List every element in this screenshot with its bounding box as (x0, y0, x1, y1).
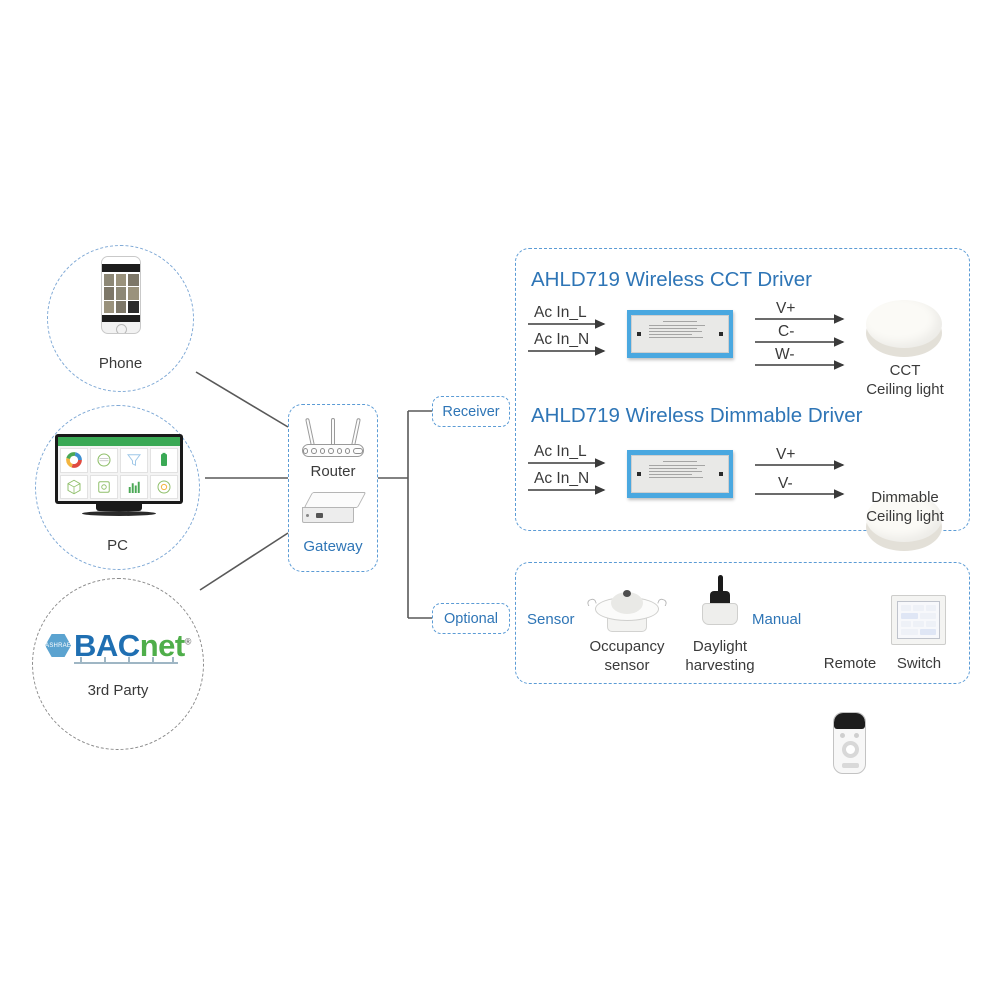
dimmable-load-line1: Dimmable (845, 489, 965, 508)
dimmable-driver-module (627, 450, 733, 498)
remote-label: Remote (815, 655, 885, 674)
gateway-label: Gateway (288, 538, 378, 557)
optional-tag-label: Optional (444, 611, 498, 627)
daylight-harvesting-icon (690, 575, 750, 633)
switch-label: Switch (886, 655, 952, 674)
occupancy-sensor-line2: sensor (575, 657, 679, 676)
dimmable-driver-title: AHLD719 Wireless Dimmable Driver (531, 404, 863, 428)
manual-group-label: Manual (752, 611, 801, 630)
bacnet-logo: ASHRAE BACnet® (48, 630, 188, 672)
smartphone-icon (101, 256, 141, 334)
receiver-tag[interactable]: Receiver (432, 396, 510, 427)
desktop-monitor-icon (55, 434, 183, 518)
third-party-label: 3rd Party (32, 682, 204, 701)
phone-label: Phone (47, 355, 194, 374)
remote-control-icon (833, 712, 866, 774)
daylight-harvesting-label: Daylight harvesting (668, 638, 772, 676)
cct-input-arrows (528, 318, 618, 366)
donut-chart-icon (65, 451, 83, 469)
gauge-icon (95, 451, 113, 469)
bacnet-logo-part2: net (140, 628, 185, 663)
dimmable-input-arrows (528, 457, 618, 505)
receiver-tag-label: Receiver (442, 404, 499, 420)
cube-icon (65, 478, 83, 496)
sensor-group-label: Sensor (527, 611, 575, 630)
ashrae-badge-icon: ASHRAE (45, 634, 71, 657)
bacnet-trademark: ® (185, 637, 191, 647)
ashrae-badge-text: ASHRAE (45, 643, 71, 649)
dimmable-load-line2: Ceiling light (845, 508, 965, 527)
dimmable-load-label: Dimmable Ceiling light (845, 489, 965, 527)
cct-load-label: CCT Ceiling light (845, 362, 965, 400)
daylight-line1: Daylight (668, 638, 772, 657)
bacnet-logo-part1: BAC (74, 628, 140, 663)
cct-load-line1: CCT (845, 362, 965, 381)
bacnet-bus-line (74, 662, 178, 664)
cct-driver-module (627, 310, 733, 358)
daylight-line2: harvesting (668, 657, 772, 676)
target-icon (155, 478, 173, 496)
wall-switch-icon (891, 595, 946, 645)
pc-label: PC (35, 537, 200, 556)
optional-tag[interactable]: Optional (432, 603, 510, 634)
cct-load-line2: Ceiling light (845, 381, 965, 400)
gateway-icon (300, 490, 368, 530)
settings-square-icon (95, 478, 113, 496)
occupancy-sensor-icon (585, 585, 669, 633)
occupancy-sensor-line1: Occupancy (575, 638, 679, 657)
funnel-icon (125, 451, 143, 469)
battery-icon (155, 451, 173, 469)
cct-ceiling-light-icon (866, 300, 942, 362)
occupancy-sensor-label: Occupancy sensor (575, 638, 679, 676)
system-architecture-diagram: Phone (0, 0, 1000, 1000)
cct-driver-title: AHLD719 Wireless CCT Driver (531, 268, 812, 292)
router-icon (298, 418, 368, 460)
router-label: Router (288, 463, 378, 482)
dimmable-output-arrows (755, 460, 855, 520)
bar-chart-icon (125, 478, 143, 496)
cct-output-arrows (755, 314, 855, 384)
